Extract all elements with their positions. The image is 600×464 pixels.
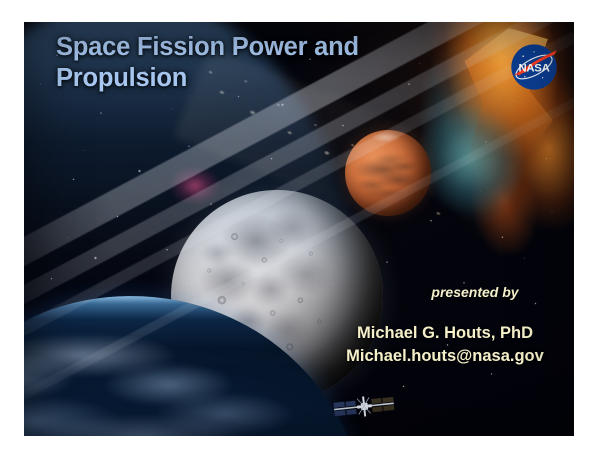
presentation-slide: NASA Space Fission Power and Propulsion …	[24, 22, 574, 436]
presenter-email: Michael.houts@nasa.gov	[320, 345, 570, 368]
mars-planet	[345, 130, 431, 216]
presenter-name: Michael G. Houts, PhD	[320, 322, 570, 345]
title-line-2: Propulsion	[56, 63, 446, 94]
nasa-logo: NASA	[507, 40, 561, 94]
mars-polar-cap	[371, 132, 400, 141]
title-line-1: Space Fission Power and	[56, 32, 446, 63]
page-title: Space Fission Power and Propulsion	[56, 32, 446, 94]
presented-by-label: presented by	[380, 284, 570, 300]
earth-limb	[24, 296, 366, 436]
nasa-wordmark: NASA	[518, 62, 549, 74]
presenter-block: Michael G. Houts, PhD Michael.houts@nasa…	[320, 322, 570, 369]
mars-surface-markings	[345, 130, 431, 216]
page-root: NASA Space Fission Power and Propulsion …	[0, 0, 600, 464]
